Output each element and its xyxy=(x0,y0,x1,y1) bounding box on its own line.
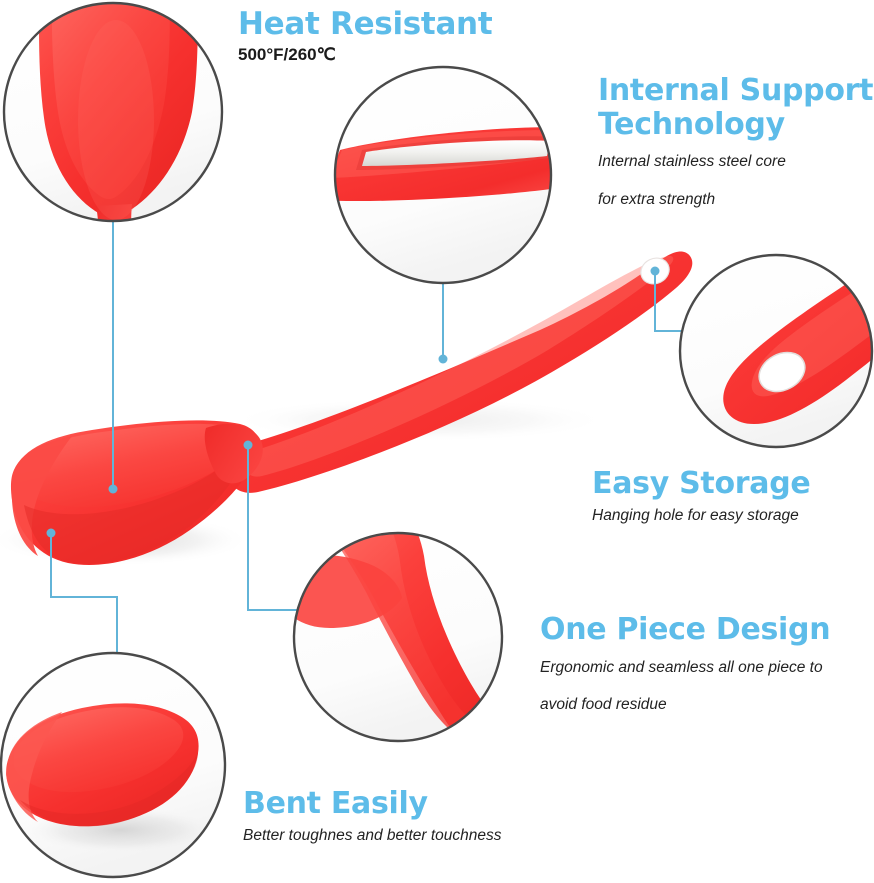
feature-one-piece-design: One Piece Design Ergonomic and seamless … xyxy=(540,612,874,723)
product-infographic: Heat Resistant 500°F/260℃ Internal Suppo… xyxy=(0,0,874,883)
feature-bent-easily: Bent Easily Better toughnes and better t… xyxy=(243,786,623,849)
callout-bent-head-closeup xyxy=(1,653,225,877)
feature-subtitle-heat-resistant: 500°F/260℃ xyxy=(238,44,538,66)
feature-title-heat-resistant: Heat Resistant xyxy=(238,6,538,42)
feature-title-easy-storage: Easy Storage xyxy=(592,466,874,502)
callout-handle-core-cutaway xyxy=(320,67,580,283)
callout-seamless-neck-closeup xyxy=(281,508,520,768)
feature-title-internal-support: Internal Support Technology xyxy=(598,74,874,142)
feature-description-easy-storage: Hanging hole for easy storage xyxy=(592,503,874,529)
feature-heat-resistant: Heat Resistant 500°F/260℃ xyxy=(238,6,538,66)
feature-title-one-piece-design: One Piece Design xyxy=(540,612,874,648)
callout-hanging-hole-closeup xyxy=(680,250,874,447)
feature-title-bent-easily: Bent Easily xyxy=(243,786,623,822)
feature-description-internal-support: Internal stainless steel core for extra … xyxy=(598,143,874,219)
main-spatula xyxy=(0,251,692,566)
feature-easy-storage: Easy Storage Hanging hole for easy stora… xyxy=(592,466,874,529)
feature-description-bent-easily: Better toughnes and better touchness xyxy=(243,823,623,849)
feature-description-one-piece-design: Ergonomic and seamless all one piece to … xyxy=(540,649,874,723)
feature-internal-support: Internal Support Technology Internal sta… xyxy=(598,74,874,219)
